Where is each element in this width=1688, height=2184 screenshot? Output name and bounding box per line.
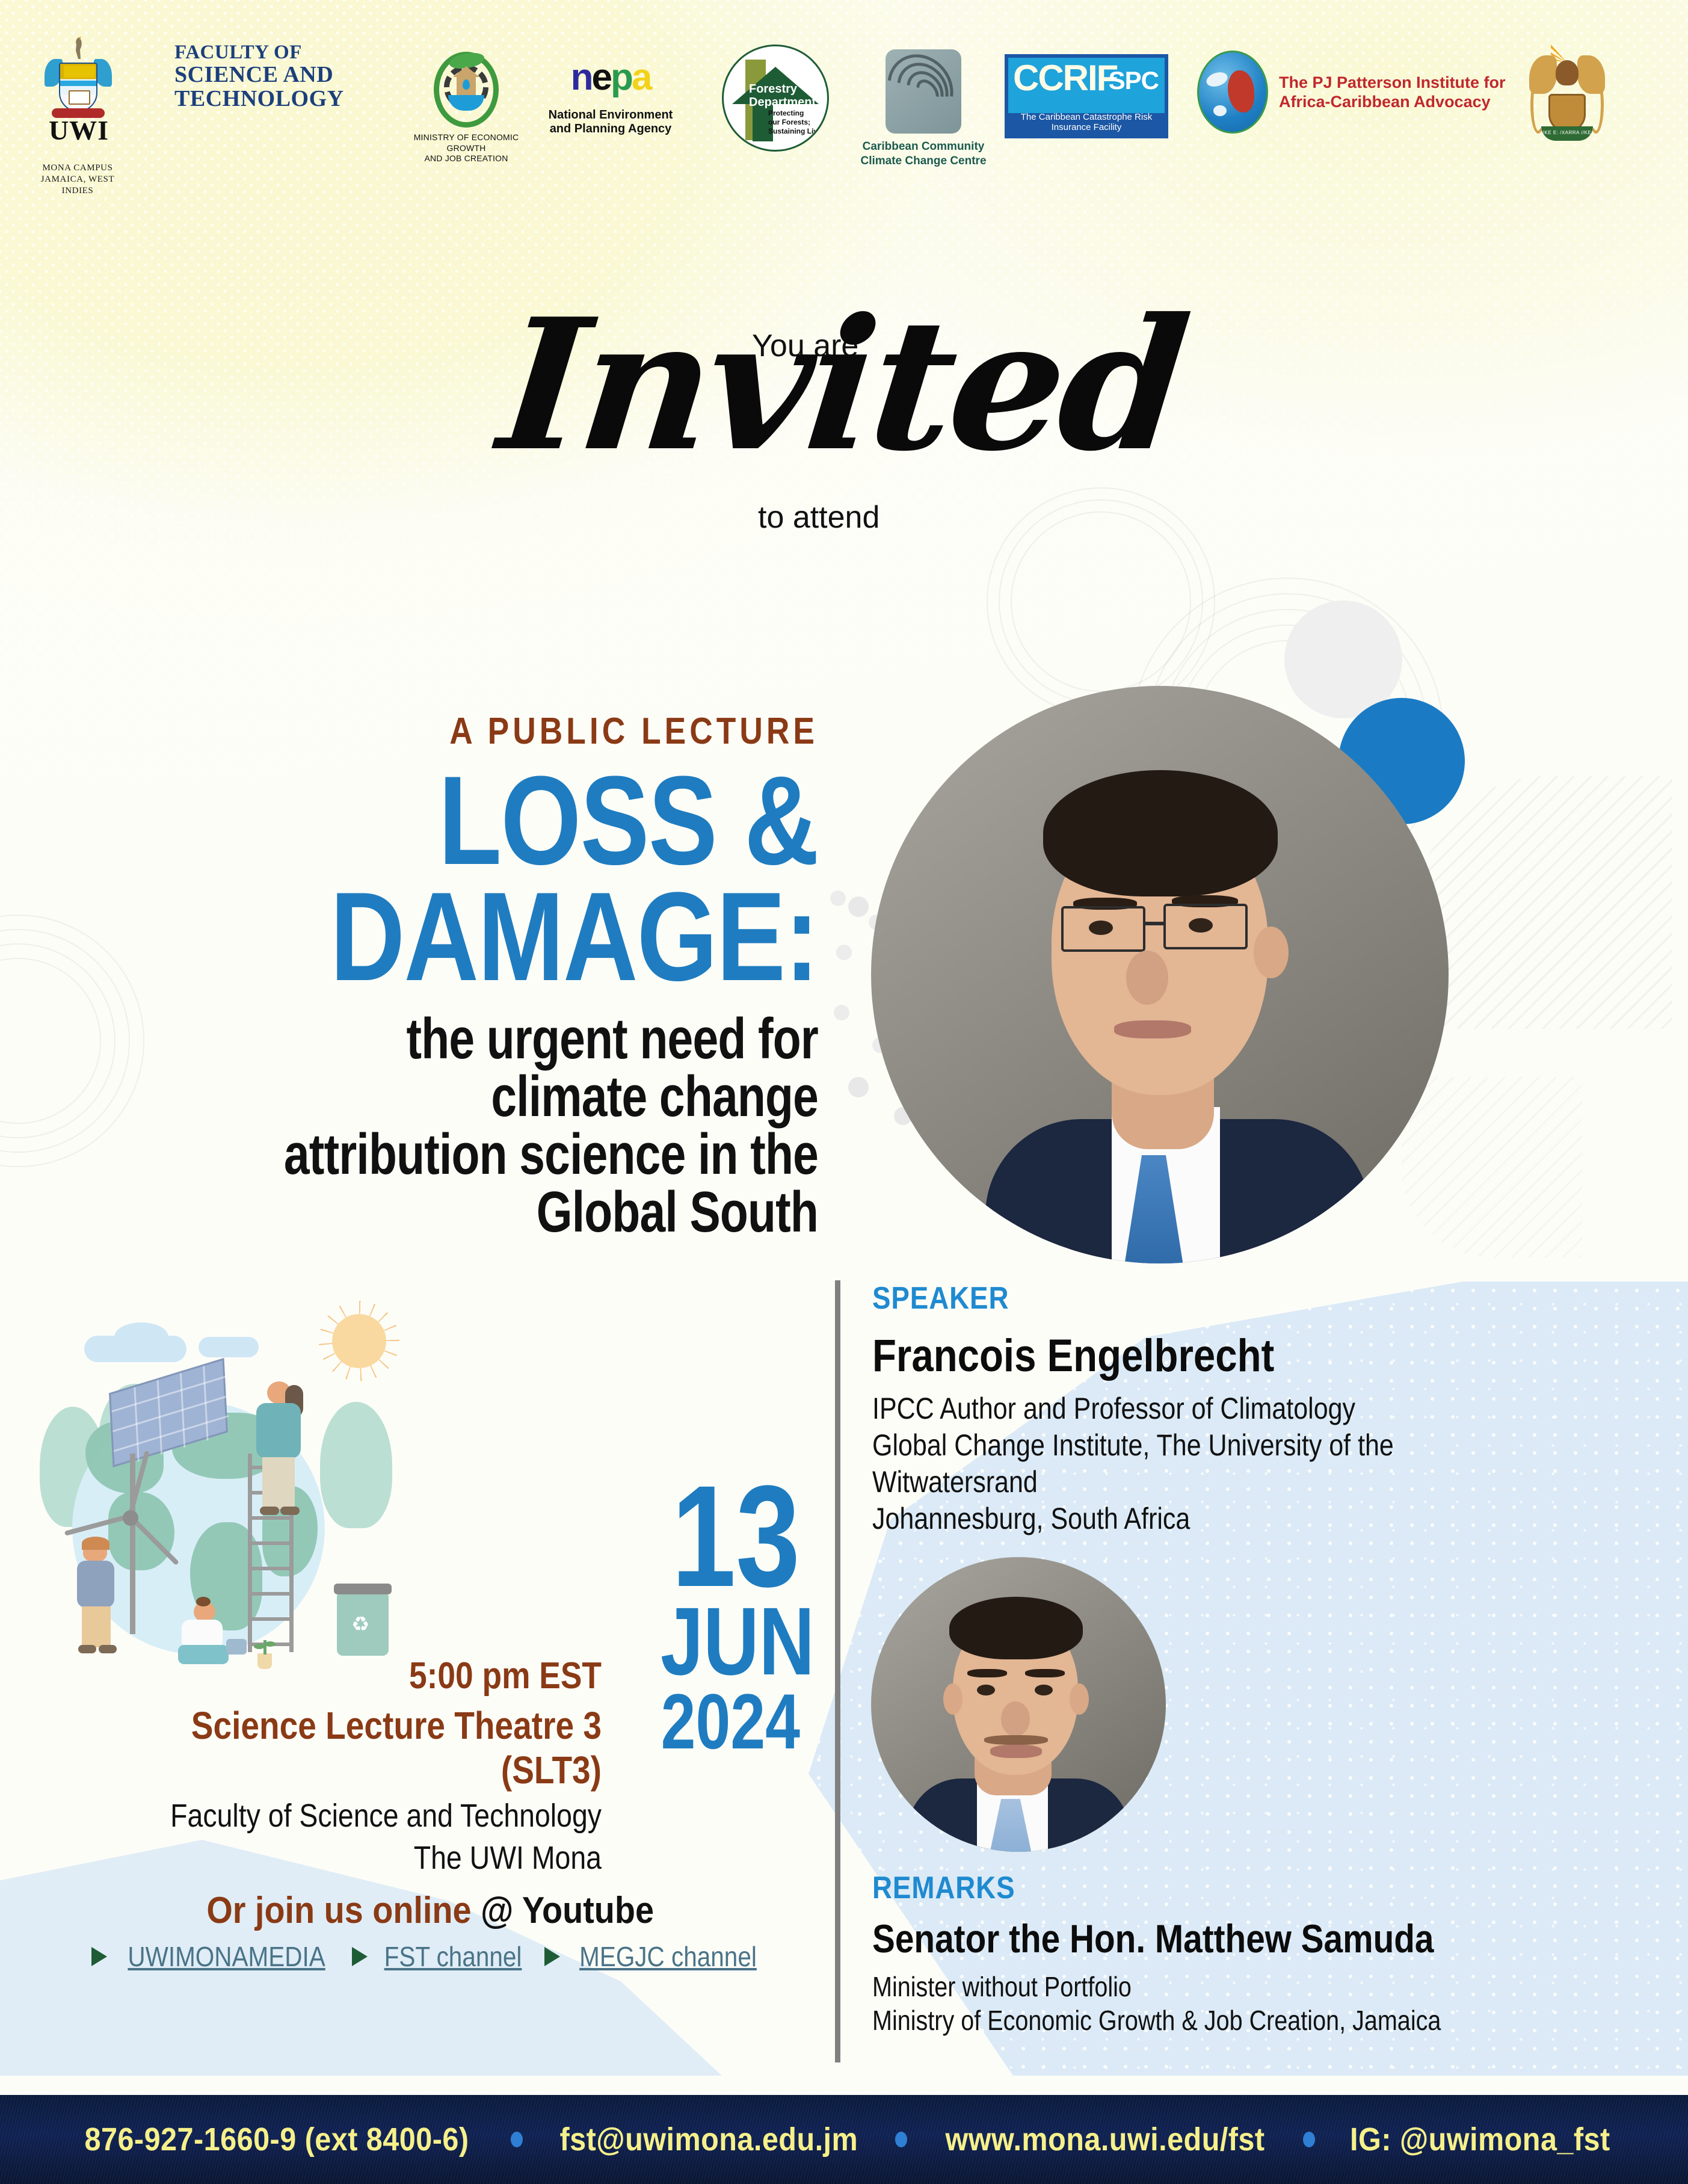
speaker-details: SPEAKER Francois Engelbrecht IPCC Author… xyxy=(872,1280,1654,1537)
cloud-icon-3 xyxy=(199,1337,259,1357)
invitation-script-word: Invited xyxy=(436,295,1249,475)
cccc-caption-line2: Climate Change Centre xyxy=(854,154,993,168)
logo-megjc: MINISTRY OF ECONOMIC GROWTH AND JOB CREA… xyxy=(397,52,535,164)
lecture-subtitle-line-3: attribution science in the xyxy=(217,1126,818,1183)
channel-link-uwimonamedia[interactable]: UWIMONAMEDIA xyxy=(91,1940,339,1973)
channel-label-fst[interactable]: FST channel xyxy=(384,1940,522,1973)
channel-label-uwimonamedia[interactable]: UWIMONAMEDIA xyxy=(128,1940,325,1973)
uwi-coat-of-arms-icon: UWI xyxy=(48,36,108,132)
play-triangle-icon xyxy=(544,1947,560,1966)
person-turbine-icon xyxy=(75,1540,119,1655)
channel-link-fst[interactable]: FST channel xyxy=(352,1940,531,1973)
sa-coa-motto: !KE E: /XARRA //KE xyxy=(1528,130,1606,135)
event-venue: 5:00 pm EST Science Lecture Theatre 3 (S… xyxy=(72,1655,602,1877)
footer-website[interactable]: www.mona.uwi.edu/fst xyxy=(945,2121,1264,2158)
ccrif-suffix: SPC xyxy=(1109,66,1159,95)
logo-ccrif-spc: CCRIF SPC The Caribbean Catastrophe Risk… xyxy=(1005,54,1168,138)
decorative-diagonal-stripes-right xyxy=(1420,776,1672,1029)
lecture-subtitle-line-2: climate change xyxy=(217,1068,818,1126)
speaker-affiliation-line-1: IPCC Author and Professor of Climatology xyxy=(872,1390,1545,1427)
invitation-posttext: to attend xyxy=(758,499,879,535)
pj-title-line2: Africa-Caribbean Advocacy xyxy=(1279,92,1506,111)
speaker-name: Francois Engelbrecht xyxy=(872,1330,1545,1382)
lecture-title-line-2: DAMAGE: xyxy=(202,878,818,995)
event-month: JUN xyxy=(661,1598,800,1685)
uwi-campus-line2: JAMAICA, WEST INDIES xyxy=(39,174,117,197)
ccrif-emblem-icon: CCRIF SPC The Caribbean Catastrophe Risk… xyxy=(1005,54,1168,138)
partner-logo-bar: UWI MONA CAMPUS JAMAICA, WEST INDIES FAC… xyxy=(0,36,1688,241)
bullet-separator-icon xyxy=(1303,2132,1315,2147)
event-year: 2024 xyxy=(661,1685,800,1759)
speaker-affiliation-line-2: Global Change Institute, The University … xyxy=(872,1427,1545,1501)
uwi-campus-line1: MONA CAMPUS xyxy=(39,162,117,174)
event-time: 5:00 pm EST xyxy=(146,1655,602,1697)
logo-pj-patterson-institute: The PJ Patterson Institute for Africa-Ca… xyxy=(1197,51,1506,134)
bullet-separator-icon xyxy=(895,2132,907,2147)
pelican-icon xyxy=(71,36,87,60)
bullet-separator-icon xyxy=(511,2132,523,2147)
remarks-photo-matthew-samuda xyxy=(871,1557,1166,1852)
event-hall: Science Lecture Theatre 3 (SLT3) xyxy=(146,1703,602,1792)
person-ladder-icon xyxy=(253,1381,307,1514)
footer-phone: 876-927-1660-9 (ext 8400-6) xyxy=(85,2121,469,2158)
event-date: 13 JUN 2024 xyxy=(626,1474,800,1759)
cccc-emblem-icon xyxy=(886,49,961,134)
forestry-title-line2: Department xyxy=(749,96,816,109)
ccrif-wordmark: CCRIF xyxy=(1013,60,1117,96)
logo-south-africa-coat-of-arms: !KE E: /XARRA //KE xyxy=(1528,42,1606,149)
fst-line-3: TECHNOLOGY xyxy=(174,87,344,111)
footer-instagram[interactable]: IG: @uwimona_fst xyxy=(1350,2121,1610,2158)
forestry-tagline-3: Sustaining Lives xyxy=(768,127,825,136)
megjc-caption-line1: MINISTRY OF ECONOMIC GROWTH xyxy=(397,132,535,153)
nepa-caption-line2: and Planning Agency xyxy=(535,122,686,136)
tree-icon-right xyxy=(320,1402,392,1528)
pj-title-line1: The PJ Patterson Institute for xyxy=(1279,73,1506,92)
remarks-title-line-2: Ministry of Economic Growth & Job Creati… xyxy=(872,2004,1545,2037)
remarks-role-label: REMARKS xyxy=(872,1870,1560,1906)
logo-faculty-of-science-and-technology: FACULTY OF SCIENCE AND TECHNOLOGY xyxy=(174,42,344,111)
online-heading-rest: @ Youtube xyxy=(481,1890,654,1931)
lecture-eyebrow: A PUBLIC LECTURE xyxy=(171,710,818,753)
play-triangle-icon xyxy=(352,1947,368,1966)
sun-icon xyxy=(332,1314,386,1368)
channel-link-megjc[interactable]: MEGJC channel xyxy=(544,1940,769,1973)
megjc-caption-line2: AND JOB CREATION xyxy=(397,153,535,164)
play-triangle-icon xyxy=(91,1947,107,1966)
nepa-caption-line1: National Environment xyxy=(535,108,686,122)
poster-canvas: UWI MONA CAMPUS JAMAICA, WEST INDIES FAC… xyxy=(0,0,1688,2184)
recycle-bin-icon: ♻ xyxy=(337,1593,389,1656)
footer-email[interactable]: fst@uwimona.edu.jm xyxy=(560,2121,858,2158)
lecture-subtitle-line-4: Global South xyxy=(217,1183,818,1241)
vertical-divider xyxy=(835,1280,840,2062)
forestry-department-emblem-icon: Forestry Department Protecting our Fores… xyxy=(722,45,829,152)
lecture-subtitle-line-1: the urgent need for xyxy=(217,1010,818,1068)
megjc-emblem-icon xyxy=(434,52,499,128)
fst-line-2: SCIENCE AND xyxy=(174,63,333,87)
remarks-name: Senator the Hon. Matthew Samuda xyxy=(872,1916,1545,1961)
event-faculty: Faculty of Science and Technology xyxy=(146,1797,602,1834)
logo-uwi-crest: UWI MONA CAMPUS JAMAICA, WEST INDIES xyxy=(48,36,108,132)
online-heading-accent: Or join us online xyxy=(206,1890,471,1931)
logo-nepa: n e p a National Environment and Plannin… xyxy=(535,51,686,136)
logo-cccc: Caribbean Community Climate Change Centr… xyxy=(854,49,993,168)
nepa-wordmark-icon: n e p a xyxy=(571,51,651,105)
remarks-title-line-1: Minister without Portfolio xyxy=(872,1970,1545,2004)
remarks-details: REMARKS Senator the Hon. Matthew Samuda … xyxy=(872,1870,1654,2037)
pj-globe-icon xyxy=(1197,51,1268,134)
online-join-block: Or join us online @ Youtube UWIMONAMEDIA… xyxy=(72,1889,788,1973)
fst-line-1: FACULTY OF xyxy=(174,42,302,63)
invitation-headline: You are Invited to attend xyxy=(445,271,1239,590)
speaker-role-label: SPEAKER xyxy=(872,1280,1560,1316)
ccrif-caption: The Caribbean Catastrophe Risk Insurance… xyxy=(1005,112,1168,132)
forestry-tagline-2: our Forests; xyxy=(768,118,825,127)
cccc-caption-line1: Caribbean Community xyxy=(854,140,993,154)
south-africa-coat-of-arms-icon: !KE E: /XARRA //KE xyxy=(1528,42,1606,149)
channel-label-megjc[interactable]: MEGJC channel xyxy=(579,1940,757,1973)
speaker-affiliation-line-3: Johannesburg, South Africa xyxy=(872,1501,1545,1537)
forestry-title-line1: Forestry xyxy=(749,82,816,96)
cloud-icon-2 xyxy=(114,1322,168,1351)
event-campus: The UWI Mona xyxy=(146,1839,602,1877)
lecture-title-line-1: LOSS & xyxy=(202,762,818,878)
uwi-wordmark: UWI xyxy=(46,114,112,146)
lecture-title-block: A PUBLIC LECTURE LOSS & DAMAGE: the urge… xyxy=(66,710,818,1241)
forestry-tagline-1: Protecting xyxy=(768,109,825,118)
speaker-photo-francois-engelbrecht xyxy=(871,686,1449,1263)
contact-footer-bar: 876-927-1660-9 (ext 8400-6) fst@uwimona.… xyxy=(0,2095,1688,2184)
logo-forestry-department: Forestry Department Protecting our Fores… xyxy=(722,45,829,152)
event-day: 13 xyxy=(661,1474,800,1598)
